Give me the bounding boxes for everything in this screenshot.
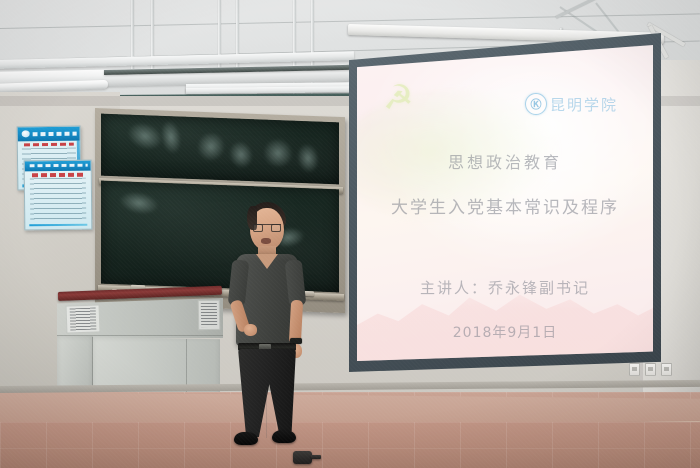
poster-body-text [29, 178, 86, 221]
university-mark-icon: Ⓚ [525, 93, 547, 115]
poster-header-band [18, 127, 80, 141]
projection-slide[interactable]: ☭ Ⓚ 昆明学院 思想政治教育 大学生入党基本常识及程序 主讲人：乔永锋副书记 … [357, 45, 653, 361]
floor-power-box[interactable] [293, 451, 312, 464]
party-emblem-icon: ☭ [383, 81, 413, 115]
chalkboard-upper-panel [101, 114, 339, 185]
floor-front [0, 422, 700, 468]
lectern-instruction-label [66, 304, 101, 333]
poster-logo-icon [21, 130, 30, 137]
presenter-glasses [253, 224, 281, 226]
floor-power-box-cable [311, 455, 321, 459]
slide-date: 2018年9月1日 [357, 322, 653, 342]
wall-socket[interactable] [629, 363, 640, 376]
ceiling-hanger-rod [131, 0, 134, 78]
presenter-left-hand [244, 324, 257, 336]
lecture-hall-photo: ☭ Ⓚ 昆明学院 思想政治教育 大学生入党基本常识及程序 主讲人：乔永锋副书记 … [0, 0, 700, 468]
poster-header-band [25, 161, 91, 171]
poster-footer-band [29, 223, 87, 226]
slide-subheading: 大学生入党基本常识及程序 [357, 193, 653, 218]
poster-title-text [31, 173, 84, 177]
presenter-trousers [238, 349, 296, 437]
wall-socket[interactable] [645, 363, 656, 376]
poster-header-text [30, 164, 87, 167]
wall-switch[interactable] [661, 363, 672, 376]
university-logo: Ⓚ 昆明学院 [525, 93, 618, 115]
notice-board-lower[interactable] [24, 160, 93, 231]
poster-title-text [24, 143, 74, 147]
slide-speaker: 主讲人：乔永锋副书记 [357, 277, 653, 298]
university-name: 昆明学院 [550, 94, 618, 115]
poster-header-text [33, 131, 77, 136]
presenter-mouth [261, 238, 271, 244]
slide-heading: 思想政治教育 [357, 149, 653, 173]
presenter-vneck [256, 254, 278, 269]
presenter-shoe-left [234, 432, 258, 445]
presenter [214, 202, 324, 450]
presenter-shoe-right [272, 430, 296, 443]
